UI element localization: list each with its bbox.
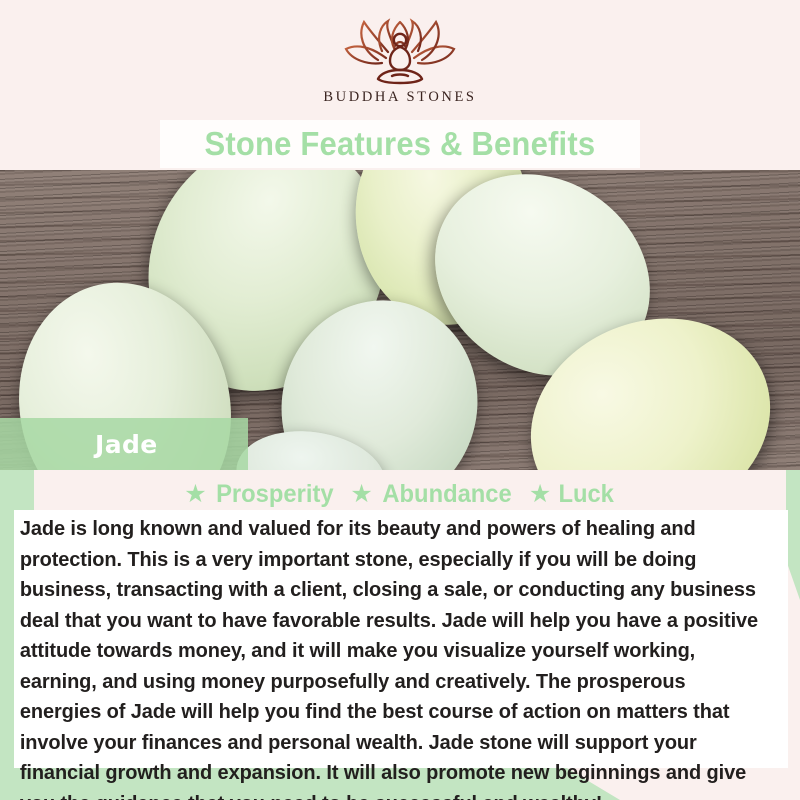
star-icon: ★ xyxy=(529,482,551,507)
description-box: Jade is long known and valued for its be… xyxy=(14,510,788,768)
benefit-item: ★ Luck xyxy=(529,480,616,509)
stone-name: Jade xyxy=(95,430,158,459)
stone-name-banner: Jade xyxy=(0,418,248,470)
star-icon: ★ xyxy=(184,482,206,507)
page-title: Stone Features & Benefits xyxy=(205,125,596,163)
stone-info-card: BUDDHA STONES Stone Features & Benefits … xyxy=(0,0,800,800)
brand-name: BUDDHA STONES xyxy=(0,89,800,106)
lotus-meditation-icon xyxy=(330,18,470,86)
benefit-label: Abundance xyxy=(382,480,511,509)
description-text: Jade is long known and valued for its be… xyxy=(14,510,765,800)
benefit-label: Luck xyxy=(559,480,614,509)
benefits-row: ★ Prosperity ★ Abundance ★ Luck xyxy=(0,476,800,512)
title-banner: Stone Features & Benefits xyxy=(160,120,640,168)
brand-logo: BUDDHA STONES xyxy=(0,18,800,106)
benefit-item: ★ Prosperity xyxy=(184,480,336,509)
benefit-item: ★ Abundance xyxy=(350,480,515,509)
benefit-label: Prosperity xyxy=(216,480,333,509)
star-icon: ★ xyxy=(350,482,372,507)
